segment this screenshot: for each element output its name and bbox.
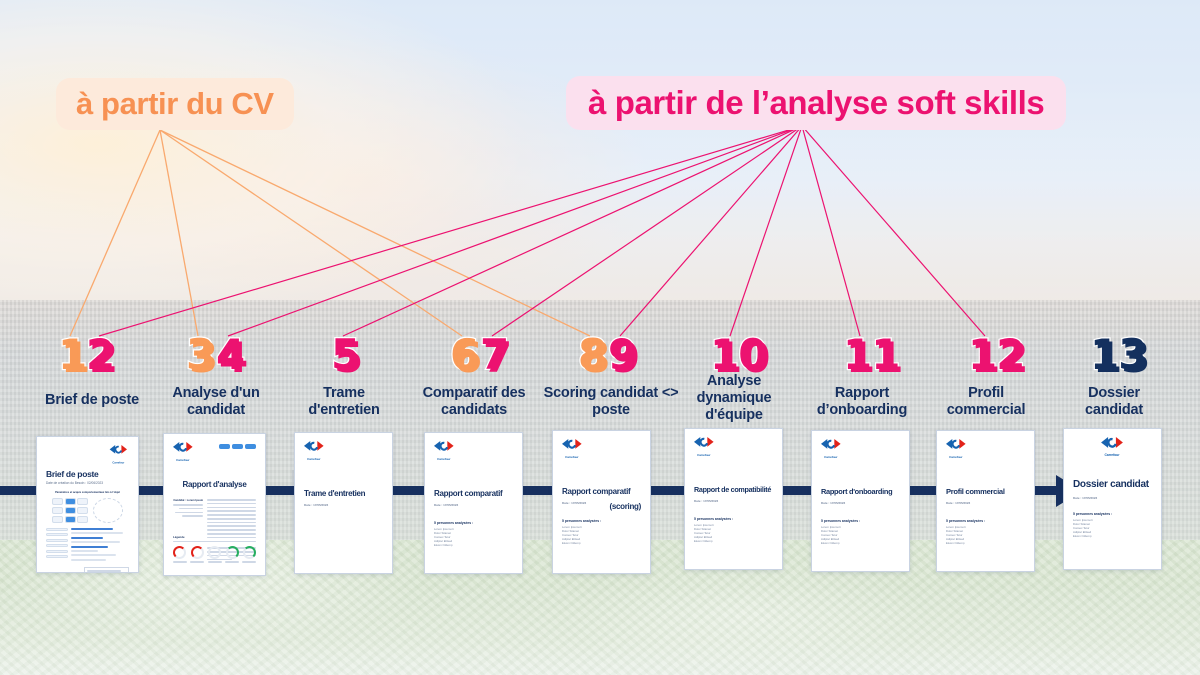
step-label-trame-dentretien: Trame d'entretien [288,385,400,419]
step-label-comparatif-des-candidats: Comparatif des candidats [408,385,540,419]
document-title: Dossier candidat [1073,479,1152,490]
document-tabs[interactable] [219,444,256,449]
document-people-list: Lorem Ipsumort Dolor Sitamet Consec Tetu… [946,525,1025,545]
document-people-list: Lorem Ipsumort Dolor Sitamet Consec Tetu… [694,523,773,543]
connector-to-step-8 [160,130,590,336]
carrefour-wordmark: Carrefour [821,455,841,459]
document-widgets [46,498,129,523]
carrefour-wordmark: Carrefour [562,455,582,459]
connector-to-step-5 [343,126,802,336]
document-subtitle: Date : 17/05/2023 [946,501,1025,505]
carrefour-logo: Carrefour [1098,437,1128,459]
legend-gauges [173,546,256,559]
connector-to-step-12 [802,126,985,336]
document-card-rapport-de-compatibilite[interactable]: Carrefour Rapport de compatibilité Date … [684,428,783,570]
document-list-heading: 5 personnes analysées : [821,519,900,523]
gauge-icon-1 [173,546,186,559]
connector-to-step-4 [228,126,802,336]
document-title: Profil commercial [946,487,1025,496]
document-card-brief-de-poste[interactable]: Carrefour Brief de poste Date de créatio… [36,436,139,573]
document-title: Rapport comparatif [434,489,513,498]
connector-to-step-2 [99,126,802,336]
carrefour-wordmark: Carrefour [173,458,193,462]
step-number-5[interactable]: 5 [331,334,359,376]
document-card-rapport-donboarding[interactable]: Carrefour Rapport d'onboarding Date : 17… [811,430,910,572]
document-people-list: Lorem Ipsumort Dolor Sitamet Consec Tetu… [562,525,641,545]
tab-chip-2[interactable] [232,444,243,449]
step-number-3[interactable]: 3 [186,334,214,376]
tab-chip-3[interactable] [245,444,256,449]
document-list-heading: 5 personnes analysées : [946,519,1025,523]
document-card-rapport-comparatif[interactable]: Carrefour Rapport comparatif Date : 17/0… [424,432,523,574]
carrefour-logo: Carrefour [173,442,203,464]
step-number-4[interactable]: 4 [216,334,244,376]
document-card-rapport-comparatif-scoring[interactable]: Carrefour Rapport comparatif Date : 17/0… [552,430,651,574]
step-label-scoring-candidat-poste: Scoring candidat <> poste [540,385,682,419]
list-item: Eiusm Odtemp [946,541,1025,545]
gauge-icon-4 [226,546,239,559]
document-subtitle: Date de création du Besoin : 02/06/2023 [46,481,129,485]
step-number-2[interactable]: 2 [86,334,114,376]
tab-chip-1[interactable] [219,444,230,449]
document-subtitle: Candidat : Lorem Ipsum [173,499,203,502]
step-number-10[interactable]: 10 [710,334,766,376]
document-section-heading: Paramètres et acquis comportementaux lié… [46,491,129,494]
document-legend: Légende [173,535,256,565]
document-list-heading: 5 personnes analysées : [562,519,641,523]
step-label-analyse-dynamique-equipe: Analyse dynamique d'équipe [682,373,786,424]
step-label-dossier-candidat: Dossier candidat [1062,385,1166,419]
step-label-brief-de-poste: Brief de poste [12,392,172,409]
carrefour-wordmark: Carrefour [110,461,127,464]
document-title: Rapport d'analyse [173,480,256,489]
badge-a-partir-du-cv[interactable]: à partir du CV [56,78,294,130]
carrefour-logo: Carrefour [99,445,129,467]
gauge-icon-3 [208,546,221,559]
carrefour-logo: Carrefour [304,441,334,463]
step-label-rapport-onboarding: Rapport d’onboarding [806,385,918,419]
document-card-rapport-danalyse[interactable]: Carrefour Rapport d'analyse Candidat : L… [163,433,266,576]
list-item: Eiusm Odtemp [821,541,900,545]
step-number-13[interactable]: 13 [1090,334,1146,376]
step-number-8[interactable]: 8 [578,334,606,376]
step-number-7[interactable]: 7 [480,334,508,376]
document-subtitle: Date : 17/05/2023 [434,503,513,507]
document-subtitle: Date : 17/05/2023 [694,499,773,503]
widget-note-box [84,567,129,573]
carrefour-wordmark: Carrefour [694,453,714,457]
gauge-icon-2 [191,546,204,559]
document-title: Brief de poste [46,469,129,479]
step-number-11[interactable]: 11 [843,334,899,376]
carrefour-logo: Carrefour [562,439,592,461]
carrefour-wordmark: Carrefour [434,457,454,461]
document-subtitle: Date : 17/05/2023 [1073,496,1152,500]
document-card-trame-dentretien[interactable]: Carrefour Trame d'entretien Date : 17/05… [294,432,393,574]
badge-a-partir-analyse-soft-skills[interactable]: à partir de l’analyse soft skills [566,76,1066,130]
document-title: Rapport comparatif [562,487,641,496]
orange-connector-group [70,130,590,336]
legend-title: Légende [173,535,256,539]
document-people-list: Lorem Ipsumort Dolor Sitamet Consec Tetu… [1073,518,1152,538]
carrefour-logo: Carrefour [434,441,464,463]
step-number-12[interactable]: 12 [968,334,1024,376]
document-list-heading: 5 personnes analysées : [1073,512,1152,516]
carrefour-logo: Carrefour [946,439,976,461]
carrefour-wordmark: Carrefour [946,455,966,459]
document-title: Trame d'entretien [304,489,383,498]
list-item: Eiusm Odtemp [562,541,641,545]
list-item: Eiusm Odtemp [434,543,513,547]
step-number-6[interactable]: 6 [450,334,478,376]
step-number-1[interactable]: 1 [58,334,86,376]
connector-to-step-11 [802,126,860,336]
connector-to-step-10 [730,126,802,336]
document-people-list: Lorem Ipsumort Dolor Sitamet Consec Tetu… [434,527,513,547]
step-number-9[interactable]: 9 [608,334,636,376]
carrefour-wordmark: Carrefour [304,457,324,461]
widget-matrix [52,498,88,523]
document-title: Rapport de compatibilité [694,485,773,494]
list-item: Eiusm Odtemp [1073,534,1152,538]
document-card-profil-commercial[interactable]: Carrefour Profil commercial Date : 17/05… [936,430,1035,572]
widget-bar-list [46,528,129,563]
step-label-analyse-dun-candidat: Analyse d'un candidat [152,385,280,419]
gauge-icon-5 [243,546,256,559]
carrefour-wordmark: Carrefour [1101,453,1123,457]
document-title: Rapport d'onboarding [821,487,900,496]
widget-radar-chart [93,498,123,523]
step-label-profil-commercial: Profil commercial [934,385,1038,419]
connector-to-step-1 [70,130,160,336]
document-subtitle: Date : 17/05/2023 [821,501,900,505]
document-card-dossier-candidat[interactable]: Carrefour Dossier candidat Date : 17/05/… [1063,428,1162,570]
pink-connector-group [99,126,985,336]
carrefour-logo: Carrefour [821,439,851,461]
document-list-heading: 5 personnes analysées : [434,521,513,525]
document-subtitle: Date : 17/05/2023 [304,503,383,507]
carrefour-logo: Carrefour [694,437,724,459]
connector-to-step-3 [160,130,198,336]
document-people-list: Lorem Ipsumort Dolor Sitamet Consec Tetu… [821,525,900,545]
list-item: Eiusm Odtemp [694,539,773,543]
document-list-heading: 5 personnes analysées : [694,517,773,521]
